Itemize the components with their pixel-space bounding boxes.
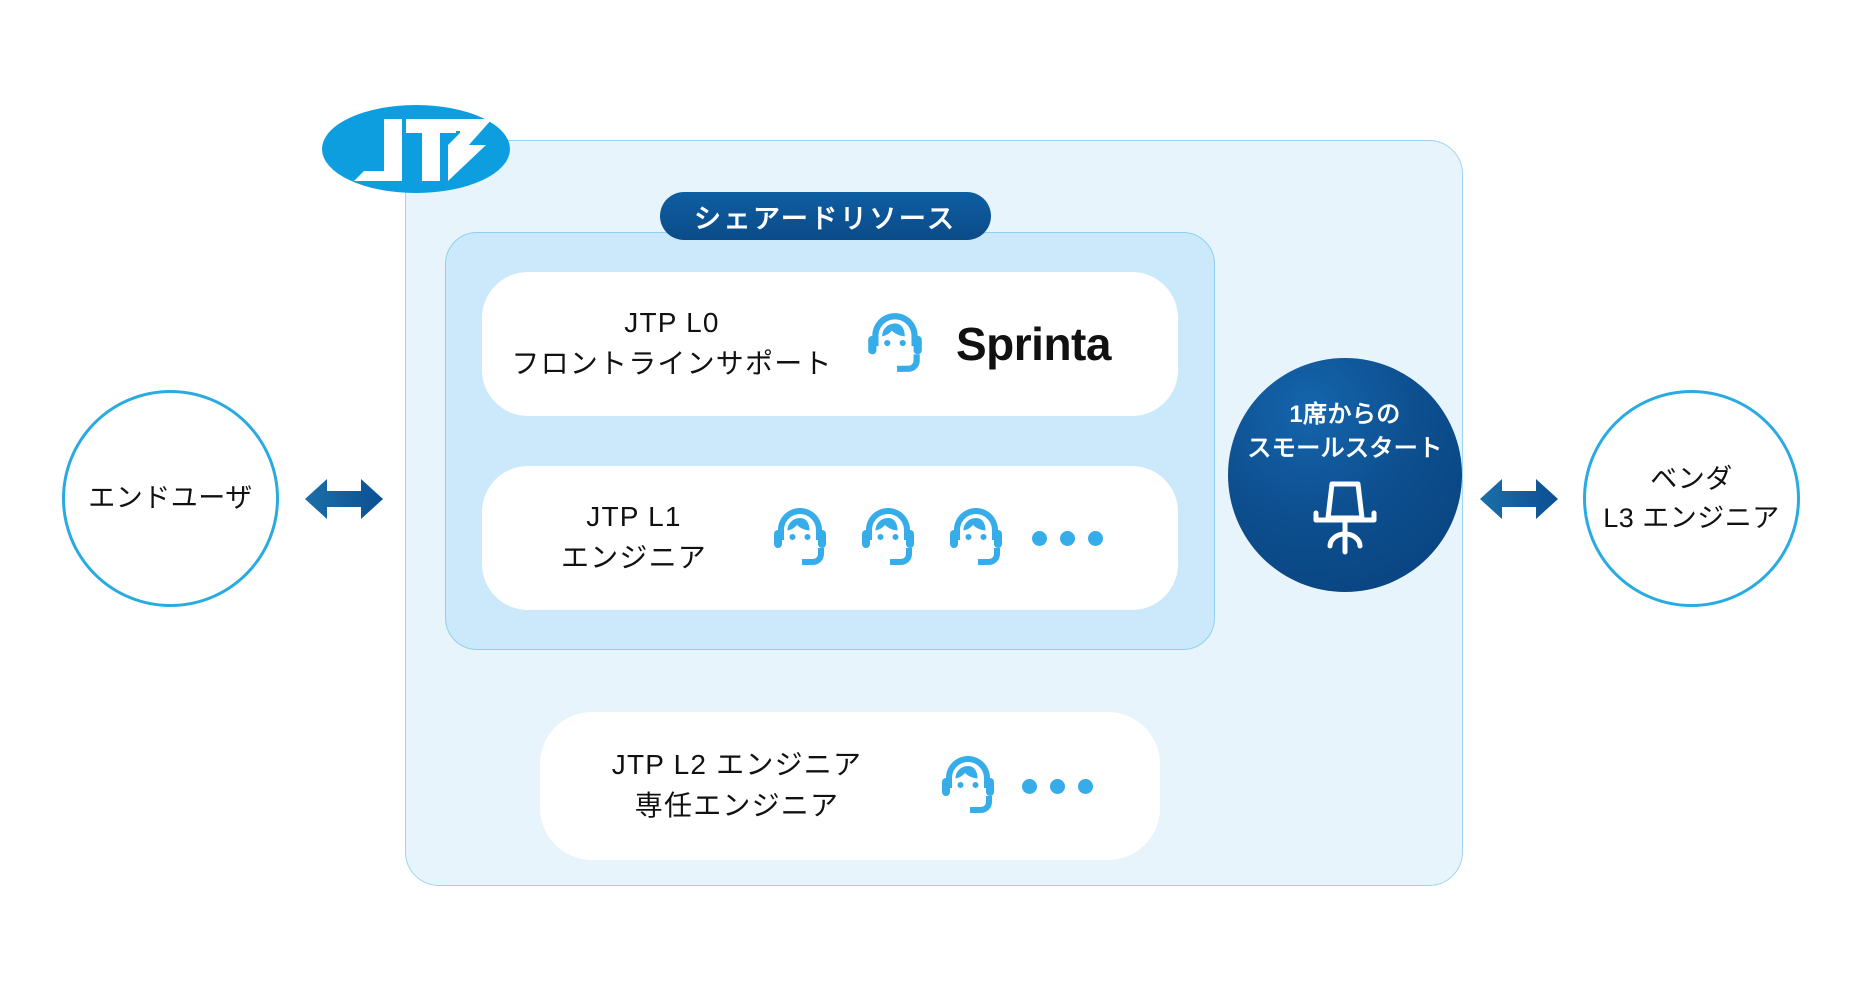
end-user-label: エンドユーザ [88, 479, 252, 517]
sprinta-wordmark: Sprinta [956, 317, 1111, 371]
small-start-line2: スモールスタート [1247, 432, 1442, 466]
card-l1-visual [768, 504, 1103, 573]
office-chair-icon [1302, 476, 1388, 563]
card-l0-visual: Sprinta [862, 309, 1111, 380]
more-engineers-ellipsis-icon [1022, 779, 1093, 794]
card-l2-line2: 専任エンジニア [572, 786, 902, 827]
small-start-line1: 1席からの [1289, 398, 1400, 432]
small-start-badge: 1席からの スモールスタート [1228, 358, 1462, 592]
card-jtp-l2: JTP L2 エンジニア 専任エンジニア [540, 712, 1160, 860]
operator-headset-icon [768, 504, 832, 573]
card-l2-line1: JTP L2 エンジニア [572, 745, 902, 786]
shared-resource-label: シェアードリソース [694, 197, 957, 236]
card-l2-label: JTP L2 エンジニア 専任エンジニア [572, 745, 902, 826]
card-l2-visual [936, 752, 1093, 821]
card-jtp-l1: JTP L1 エンジニア [482, 466, 1178, 610]
card-l0-line1: JTP L0 [482, 303, 862, 344]
operator-headset-icon [936, 752, 1000, 821]
vendor-circle: ベンダ L3 エンジニア [1583, 390, 1800, 607]
jtp-logo-icon [322, 105, 510, 193]
operator-headset-icon [856, 504, 920, 573]
card-l1-label: JTP L1 エンジニア [500, 497, 768, 578]
card-l1-line2: エンジニア [500, 538, 768, 579]
card-l1-line1: JTP L1 [500, 497, 768, 538]
shared-resource-badge: シェアードリソース [660, 192, 991, 240]
end-user-circle: エンドユーザ [62, 390, 279, 607]
vendor-line1: ベンダ [1650, 460, 1733, 498]
double-arrow-left-icon [305, 475, 383, 523]
double-arrow-right-icon [1480, 475, 1558, 523]
diagram-canvas: エンドユーザ シェアードリソース [0, 0, 1860, 1000]
more-engineers-ellipsis-icon [1032, 531, 1103, 546]
vendor-line2: L3 エンジニア [1603, 499, 1780, 537]
card-jtp-l0: JTP L0 フロントラインサポート Sprinta [482, 272, 1178, 416]
card-l0-label: JTP L0 フロントラインサポート [482, 303, 862, 384]
operator-headset-icon [862, 309, 928, 380]
card-l0-line2: フロントラインサポート [482, 344, 862, 385]
operator-headset-icon [944, 504, 1008, 573]
